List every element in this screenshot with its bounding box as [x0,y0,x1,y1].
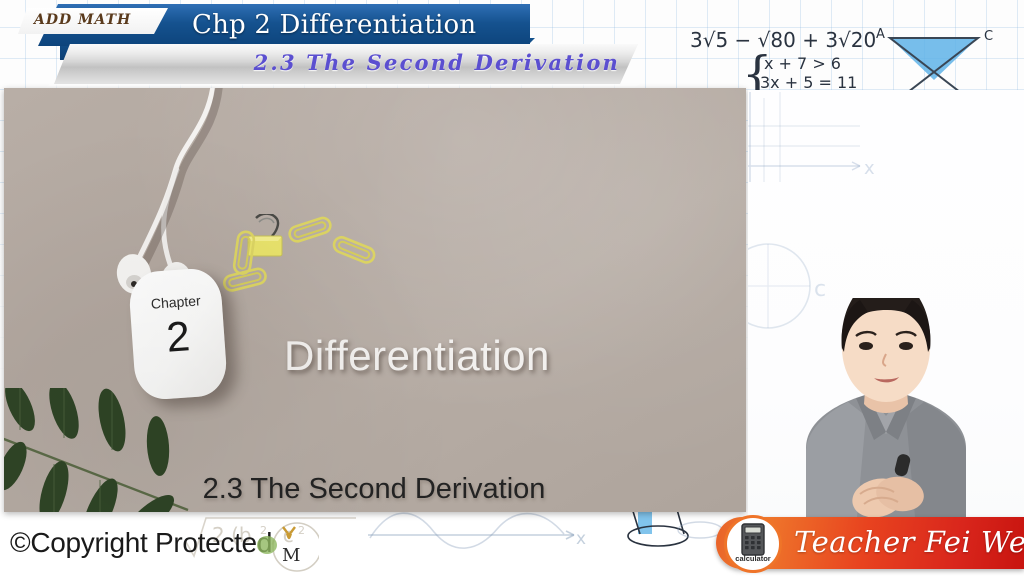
header-banner: Chp 2 Differentiation 2.3 The Second Der… [0,0,660,96]
calculator-icon [740,523,766,557]
teacher-banner: Teacher Fei Wen calculator [716,517,1024,569]
svg-text:M: M [282,545,300,566]
presenter-video: x c [748,90,1024,522]
calculator-badge: calculator [724,515,782,573]
paperclip-icon [326,234,378,276]
chapter-label: Chapter [129,291,222,313]
copyright-notice: ©Copyright Protected [10,527,272,559]
brand-logo-icon: M [255,521,319,575]
faint-axes-sketch: x [748,90,900,206]
chapter-number: 2 [131,313,226,361]
header-title: Chp 2 Differentiation [192,7,522,45]
svg-text:C: C [984,29,993,44]
svg-text:x: x [576,529,586,549]
paperclip-icon [220,264,272,304]
calculator-badge-label: calculator [727,554,779,563]
header-subtitle: 2.3 The Second Derivation [150,50,654,80]
teacher-name: Teacher Fei Wen [794,525,1024,559]
note-inequality-1: x + 7 > 6 [764,54,841,73]
chapter-card: Chapter 2 [128,267,229,401]
subject-badge-label: ADD MATH [34,12,131,28]
svg-text:A: A [876,28,885,42]
slide-title: Differentiation [284,332,704,380]
note-surds: 3√5 − √80 + 3√20 [690,28,876,52]
svg-text:x: x [864,158,875,179]
slide-screenshot: 3√5 − √80 + 3√20 { x + 7 > 6 3x + 5 = 11… [0,0,1024,576]
subject-badge: ADD MATH [18,8,168,34]
presenter-figure [748,298,1024,522]
leaf-sprig-decoration [4,388,207,512]
lesson-slide-image: Chapter 2 Differentiation 2.3 The Second… [4,88,746,512]
